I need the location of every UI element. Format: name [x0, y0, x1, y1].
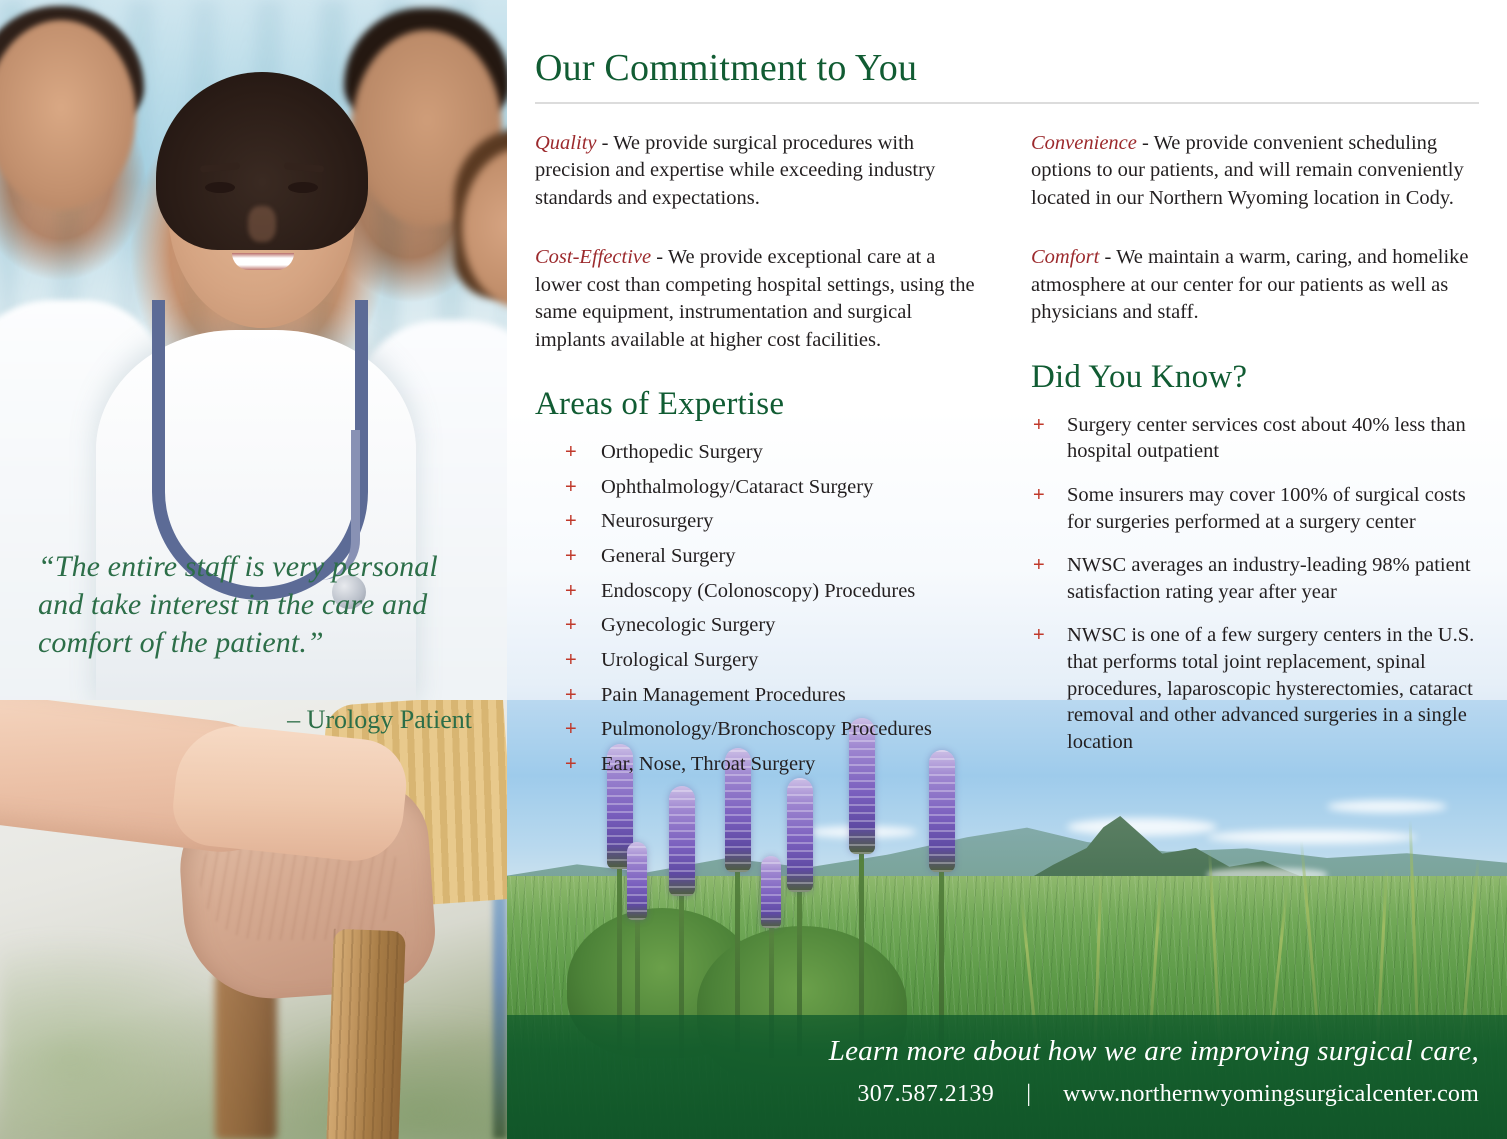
list-item-label: Neurosurgery	[601, 510, 713, 532]
list-item-label: Ear, Nose, Throat Surgery	[601, 753, 815, 775]
list-item-label: Some insurers may cover 100% of surgical…	[1067, 484, 1466, 533]
list-item: +Ear, Nose, Throat Surgery	[535, 751, 983, 778]
list-item: +NWSC is one of a few surgery centers in…	[1031, 622, 1479, 755]
list-item-label: General Surgery	[601, 545, 736, 567]
list-item: +NWSC averages an industry-leading 98% p…	[1031, 552, 1479, 605]
list-item-label: NWSC is one of a few surgery centers in …	[1067, 624, 1474, 753]
commitment-paragraph-comfort: Comfort - We maintain a warm, caring, an…	[1031, 244, 1479, 326]
expertise-list: +Orthopedic Surgery +Ophthalmology/Catar…	[535, 439, 983, 777]
eye-right	[288, 182, 318, 193]
list-item: +Ophthalmology/Cataract Surgery	[535, 474, 983, 501]
title-divider	[535, 102, 1479, 104]
plus-icon: +	[565, 508, 577, 534]
list-item: +Pulmonology/Bronchoscopy Procedures	[535, 716, 983, 743]
testimonial-attribution: – Urology Patient	[38, 705, 486, 735]
footer-separator: |	[1026, 1081, 1031, 1108]
content-area: Our Commitment to You Quality - We provi…	[507, 0, 1507, 1139]
list-item-label: Pain Management Procedures	[601, 684, 846, 706]
list-item: +Endoscopy (Colonoscopy) Procedures	[535, 578, 983, 605]
list-item-label: Pulmonology/Bronchoscopy Procedures	[601, 718, 932, 740]
list-item-label: NWSC averages an industry-leading 98% pa…	[1067, 554, 1471, 603]
walking-cane	[326, 929, 405, 1139]
testimonial-block: “The entire staff is very personal and t…	[38, 548, 486, 735]
two-column-layout: Quality - We provide surgical procedures…	[535, 130, 1479, 786]
list-item-label: Orthopedic Surgery	[601, 441, 763, 463]
column-right: Convenience - We provide convenient sche…	[1031, 130, 1479, 786]
list-item: +Gynecologic Surgery	[535, 612, 983, 639]
commitment-lead-cost-effective: Cost-Effective	[535, 246, 651, 268]
list-item: +Orthopedic Surgery	[535, 439, 983, 466]
plus-icon: +	[565, 543, 577, 569]
commitment-paragraph-cost-effective: Cost-Effective - We provide exceptional …	[535, 244, 983, 354]
list-item-label: Urological Surgery	[601, 649, 758, 671]
commitment-dash: -	[651, 246, 668, 268]
plus-icon: +	[1033, 552, 1045, 578]
mouth-smile	[232, 253, 294, 270]
plus-icon: +	[565, 474, 577, 500]
right-content-panel: Learn more about how we are improving su…	[507, 0, 1507, 1139]
page-title: Our Commitment to You	[535, 48, 1479, 90]
list-item-label: Endoscopy (Colonoscopy) Procedures	[601, 580, 915, 602]
brochure-page: “The entire staff is very personal and t…	[0, 0, 1507, 1139]
caregiver-hands-photo	[0, 700, 507, 1139]
plus-icon: +	[565, 439, 577, 465]
list-item: +Neurosurgery	[535, 508, 983, 535]
footer-phone[interactable]: 307.587.2139	[857, 1081, 994, 1107]
eye-left	[205, 182, 235, 193]
plus-icon: +	[565, 751, 577, 777]
list-item-label: Surgery center services cost about 40% l…	[1067, 414, 1466, 463]
plus-icon: +	[1033, 482, 1045, 508]
plus-icon: +	[565, 612, 577, 638]
commitment-paragraph-quality: Quality - We provide surgical procedures…	[535, 130, 983, 212]
list-item-label: Ophthalmology/Cataract Surgery	[601, 476, 873, 498]
list-item: +Some insurers may cover 100% of surgica…	[1031, 482, 1479, 535]
nose	[248, 206, 276, 242]
list-item: +General Surgery	[535, 543, 983, 570]
commitment-paragraph-convenience: Convenience - We provide convenient sche…	[1031, 130, 1479, 212]
footer-band: Learn more about how we are improving su…	[507, 1015, 1507, 1139]
column-left: Quality - We provide surgical procedures…	[535, 130, 983, 786]
commitment-dash: -	[1099, 246, 1116, 268]
caregiver-fingers	[169, 720, 410, 865]
plus-icon: +	[1033, 622, 1045, 648]
list-item-label: Gynecologic Surgery	[601, 614, 775, 636]
list-item: +Surgery center services cost about 40% …	[1031, 412, 1479, 465]
plus-icon: +	[565, 682, 577, 708]
section-heading-expertise: Areas of Expertise	[535, 386, 983, 423]
did-you-know-list: +Surgery center services cost about 40% …	[1031, 412, 1479, 756]
commitment-dash: -	[597, 132, 614, 154]
list-item: +Pain Management Procedures	[535, 682, 983, 709]
left-photo-panel: “The entire staff is very personal and t…	[0, 0, 507, 1139]
plus-icon: +	[565, 578, 577, 604]
commitment-lead-convenience: Convenience	[1031, 132, 1137, 154]
plus-icon: +	[565, 647, 577, 673]
commitment-lead-comfort: Comfort	[1031, 246, 1099, 268]
section-heading-did-you-know: Did You Know?	[1031, 359, 1479, 396]
commitment-lead-quality: Quality	[535, 132, 597, 154]
plus-icon: +	[565, 716, 577, 742]
testimonial-quote: “The entire staff is very personal and t…	[38, 548, 486, 661]
plus-icon: +	[1033, 412, 1045, 438]
list-item: +Urological Surgery	[535, 647, 983, 674]
footer-website-link[interactable]: www.northernwyomingsurgicalcenter.com	[1063, 1081, 1479, 1107]
footer-tagline: Learn more about how we are improving su…	[507, 1035, 1479, 1068]
commitment-dash: -	[1137, 132, 1154, 154]
footer-contact: 307.587.2139 | www.northernwyomingsurgic…	[507, 1081, 1479, 1108]
